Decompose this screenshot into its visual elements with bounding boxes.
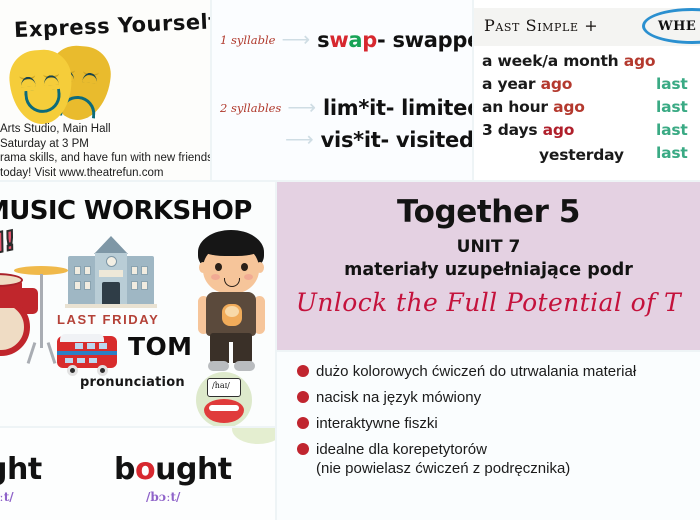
last-keyword: last: [656, 144, 688, 162]
word-part: vis*it-: [321, 128, 396, 152]
word-result: visited: [396, 128, 474, 152]
flyer-line: Saturday at 3 PM: [0, 137, 212, 152]
word-part-highlight: w: [329, 28, 348, 52]
panel-divider: [277, 350, 700, 352]
theatre-flyer-details: Arts Studio, Main Hall Saturday at 3 PM …: [0, 122, 212, 180]
pronunciation-cards-panel: ght ɔːt/ bought /bɔːt/: [0, 428, 277, 520]
syllable-row: 1 syllable ⟶ swap- swapped: [220, 28, 474, 52]
feature-sub-note: (nie powielasz ćwiczeń z podręcznika): [316, 460, 570, 477]
book-subtitle: materiały uzupełniające podr: [277, 260, 700, 280]
word-part: b: [114, 452, 135, 487]
together-book-panel: Together 5 UNIT 7 materiały uzupełniając…: [277, 182, 700, 352]
tagline: Unlock the Full Potential of T: [277, 288, 700, 317]
boy-character-icon: [186, 230, 277, 378]
syllable-example: swap- swapped: [317, 28, 474, 52]
arrow-right-icon: ⟶: [287, 98, 316, 118]
feature-text: dużo kolorowych ćwiczeń do utrwalania ma…: [316, 362, 636, 381]
pronunciation-label: pronunciation: [80, 375, 185, 390]
phonetic-bubble-text: /haɪ/: [212, 381, 230, 390]
panel-divider: [472, 0, 474, 182]
past-simple-title: Past Simple +: [484, 16, 598, 35]
flyer-line: rama skills, and have fun with new frien…: [0, 151, 212, 166]
tom-name-label: TOM: [128, 332, 192, 361]
panel-divider: [0, 180, 700, 182]
time-expression-row: 3 days ago: [482, 121, 574, 139]
list-item: idealne dla korepetytorów: [297, 440, 487, 459]
list-item: dużo kolorowych ćwiczeń do utrwalania ma…: [297, 362, 636, 381]
bullet-dot-icon: [297, 417, 309, 429]
unit-label: UNIT 7: [277, 237, 700, 257]
time-expression-keyword: ago: [541, 75, 573, 93]
bullet-dot-icon: [297, 443, 309, 455]
time-expression-text: a week/a month: [482, 52, 624, 70]
panel-divider: [0, 426, 277, 428]
last-friday-label: LAST FRIDAY: [57, 312, 159, 327]
list-item: interaktywne fiszki: [297, 414, 438, 433]
theatre-masks-icon: [8, 44, 118, 122]
time-expression-row: an hour ago: [482, 98, 585, 116]
word-part: ght: [0, 452, 42, 487]
word-part: lim*it-: [323, 96, 401, 120]
arrow-right-icon: ⟶: [281, 30, 310, 50]
feature-text: idealne dla korepetytorów: [316, 440, 487, 459]
double-decker-bus-icon: [57, 334, 119, 376]
panel-divider: [210, 0, 212, 182]
features-panel: dużo kolorowych ćwiczeń do utrwalania ma…: [277, 352, 700, 520]
time-expression-keyword: ago: [624, 52, 656, 70]
time-expression-row: a year ago: [482, 75, 572, 93]
last-keyword: last: [656, 75, 688, 93]
music-workshop-panel: MUSIC WORKSHOP ol!: [0, 182, 277, 428]
feature-text: nacisk na język mówiony: [316, 388, 481, 407]
time-expression-keyword: ago: [553, 98, 585, 116]
syllable-count-label: 1 syllable: [220, 33, 275, 47]
time-expression-text: an hour: [482, 98, 553, 116]
word-part: s: [317, 28, 329, 52]
word-card-left: ght: [0, 452, 42, 487]
time-expression-row: a week/a month ago: [482, 52, 655, 70]
word-part-highlight: p: [362, 28, 377, 52]
word-result: swapped: [392, 28, 474, 52]
arrow-right-icon: ⟶: [285, 130, 314, 150]
list-item: nacisk na język mówiony: [297, 388, 481, 407]
school-building-icon: [68, 236, 154, 308]
ipa-transcription: ɔːt/: [0, 490, 14, 504]
time-expression-text: a year: [482, 75, 541, 93]
collage-canvas: Express Yourself! Arts Studio, Main Hall…: [0, 0, 700, 520]
syllable-example: lim*it- limited: [323, 96, 474, 120]
word-part-highlight: a: [348, 28, 362, 52]
book-title: Together 5: [277, 194, 700, 230]
word-card-right: bought: [114, 452, 232, 487]
word-result: limited: [401, 96, 474, 120]
syllable-example: vis*it- visited: [321, 128, 474, 152]
theatre-flyer-panel: Express Yourself! Arts Studio, Main Hall…: [0, 0, 212, 182]
time-expression-text: yesterday: [539, 146, 624, 164]
flyer-line: today! Visit www.theatrefun.com: [0, 166, 212, 181]
speaking-mouth-icon: /haɪ/: [196, 372, 252, 428]
page-title: Express Yourself!: [14, 10, 205, 42]
feature-text: interaktywne fiszki: [316, 414, 438, 433]
time-expression-row: yesterday: [539, 146, 624, 164]
syllable-row: 2 syllables ⟶ lim*it- limited: [220, 96, 474, 120]
word-part: -: [377, 28, 392, 52]
word-part: ught: [155, 452, 232, 487]
bullet-dot-icon: [297, 391, 309, 403]
syllable-count-label: 2 syllables: [220, 101, 281, 115]
time-expression-text: 3 days: [482, 121, 543, 139]
last-keyword: last: [656, 121, 688, 139]
decorative-blob: [232, 428, 277, 444]
flyer-line: Arts Studio, Main Hall: [0, 122, 212, 137]
word-part-highlight: o: [135, 452, 155, 487]
ipa-transcription: /bɔːt/: [146, 490, 180, 504]
last-keyword: last: [656, 98, 688, 116]
time-expression-keyword: ago: [543, 121, 575, 139]
syllable-rules-panel: 1 syllable ⟶ swap- swapped 2 syllables ⟶…: [212, 0, 474, 182]
past-simple-panel: Past Simple + WHE a week/a month ago a y…: [474, 0, 700, 182]
when-label: WHE: [658, 19, 696, 34]
bullet-dot-icon: [297, 365, 309, 377]
syllable-row: ⟶ vis*it- visited: [285, 128, 474, 152]
